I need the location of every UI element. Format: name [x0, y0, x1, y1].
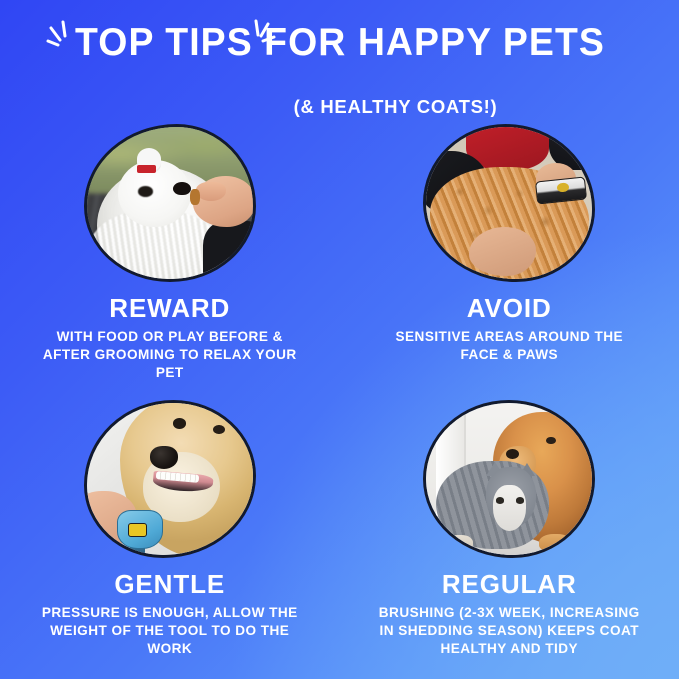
- photo-scene-maltese-treat: [87, 127, 253, 279]
- cat-eye-right: [516, 497, 524, 503]
- tip-body-reward: WITH FOOD OR PLAY BEFORE & AFTER GROOMIN…: [41, 328, 299, 382]
- hair-bow-ribbon: [137, 165, 157, 173]
- dog-paw: [539, 534, 572, 552]
- dog-nose: [150, 446, 178, 469]
- grooming-tool-badge: [128, 523, 146, 537]
- cat-eye-left: [496, 497, 504, 503]
- infographic-poster: TOP TIPS FOR HAPPY PETS (& HEALTHY COATS…: [0, 0, 679, 679]
- photo-gentle: [84, 400, 256, 558]
- tip-body-avoid: SENSITIVE AREAS AROUND THE FACE & PAWS: [380, 328, 638, 364]
- tip-title-gentle: GENTLE: [114, 571, 225, 597]
- tip-title-regular: REGULAR: [442, 571, 577, 597]
- tip-photo-wrap-regular: [423, 400, 595, 558]
- tip-card-avoid: AVOID SENSITIVE AREAS AROUND THE FACE & …: [340, 124, 679, 382]
- tip-card-reward: REWARD WITH FOOD OR PLAY BEFORE & AFTER …: [0, 124, 340, 382]
- person-sleeve: [203, 221, 256, 282]
- sparkle-burst-left-icon: [44, 19, 78, 49]
- dog-treat: [190, 189, 200, 204]
- tip-photo-wrap-reward: [84, 124, 256, 282]
- poster-header: TOP TIPS FOR HAPPY PETS (& HEALTHY COATS…: [0, 22, 679, 64]
- photo-avoid: [423, 124, 595, 282]
- photo-scene-dog-and-cat: [426, 403, 592, 555]
- photo-regular: [423, 400, 595, 558]
- tip-body-regular: BRUSHING (2-3X WEEK, INCREASING IN SHEDD…: [371, 604, 647, 658]
- title-row: TOP TIPS FOR HAPPY PETS: [48, 22, 632, 64]
- tips-row-2: GENTLE PRESSURE IS ENOUGH, ALLOW THE WEI…: [0, 400, 679, 658]
- cat-paw: [446, 535, 473, 552]
- tips-grid: REWARD WITH FOOD OR PLAY BEFORE & AFTER …: [0, 124, 679, 658]
- dog-eye-right: [213, 425, 225, 434]
- photo-reward: [84, 124, 256, 282]
- tips-row-1: REWARD WITH FOOD OR PLAY BEFORE & AFTER …: [0, 124, 679, 382]
- dog-eye: [138, 186, 153, 197]
- tip-body-gentle: PRESSURE IS ENOUGH, ALLOW THE WEIGHT OF …: [41, 604, 299, 658]
- tip-photo-wrap-avoid: [423, 124, 595, 282]
- page-title: TOP TIPS FOR HAPPY PETS: [75, 22, 605, 64]
- tip-title-reward: REWARD: [109, 295, 230, 321]
- cat-face: [493, 485, 526, 531]
- dog-eye: [546, 437, 556, 445]
- tip-photo-wrap-gentle: [84, 400, 256, 558]
- page-subtitle: (& HEALTHY COATS!): [0, 96, 679, 118]
- tip-card-regular: REGULAR BRUSHING (2-3X WEEK, INCREASING …: [340, 400, 679, 658]
- photo-scene-doodle-grooming: [426, 127, 592, 279]
- tip-title-avoid: AVOID: [467, 295, 552, 321]
- person-hand: [469, 227, 535, 276]
- photo-scene-retriever-brush: [87, 403, 253, 555]
- tip-card-gentle: GENTLE PRESSURE IS ENOUGH, ALLOW THE WEI…: [0, 400, 340, 658]
